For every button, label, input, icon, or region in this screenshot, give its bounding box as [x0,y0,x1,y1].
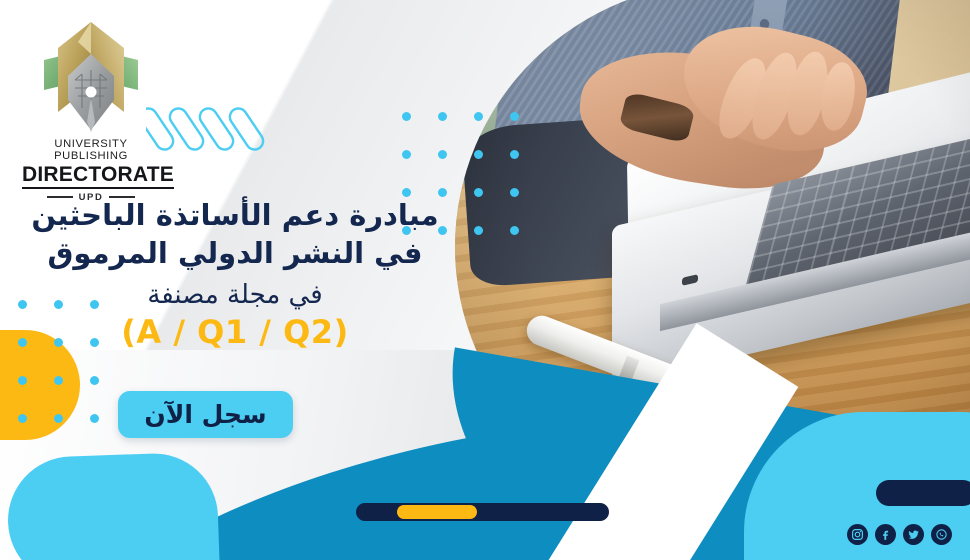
instagram-icon[interactable] [847,524,868,545]
headline: مبادرة دعم الأساتذة الباحثين في النشر ال… [0,196,470,273]
zigzag-squiggle-icon [146,103,272,155]
logo-line-university-publishing: UNIVERSITY PUBLISHING [22,138,160,163]
copy-block: مبادرة دعم الأساتذة الباحثين في النشر ال… [0,196,470,351]
subheadline: في مجلة مصنفة [0,279,470,312]
logo[interactable]: UNIVERSITY PUBLISHING DIRECTORATE UPD [22,14,160,194]
logo-wordmark: UNIVERSITY PUBLISHING DIRECTORATE UPD [22,138,160,203]
whatsapp-icon[interactable] [931,524,952,545]
social-links [847,524,952,545]
book-pen-nib-logo-icon [22,14,160,142]
promo-banner: UNIVERSITY PUBLISHING DIRECTORATE UPD مب… [0,0,970,560]
facebook-icon[interactable] [875,524,896,545]
journal-tier-label: (A / Q1 / Q2) [0,313,470,351]
register-now-button[interactable]: سجل الآن [118,391,293,438]
decor-cyan-pill-bottom-left [6,451,220,560]
twitter-icon[interactable] [903,524,924,545]
progress-bar-fill [397,505,477,519]
decor-navy-pill-right [876,480,970,506]
progress-bar-track[interactable] [356,503,609,521]
logo-line-directorate: DIRECTORATE [22,164,174,189]
